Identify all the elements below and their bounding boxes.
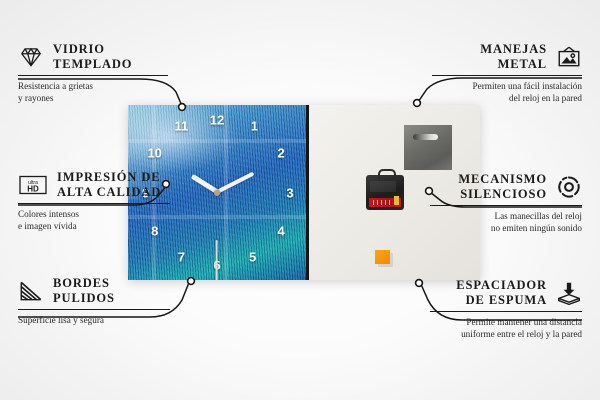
clock-mechanism — [366, 175, 404, 210]
mechanism-label — [369, 198, 401, 207]
spacer-arrow-icon — [556, 280, 582, 306]
feature-impresion-alta-calidad[interactable]: ultra HD IMPRESIÓN DE ALTA CALIDAD Color… — [18, 170, 170, 232]
feature-title: VIDRIO TEMPLADO — [53, 42, 132, 72]
clock-numeral-1: 1 — [251, 120, 258, 133]
feature-mecanismo-silencioso[interactable]: MECANISMO SILENCIOSO Las manecillas del … — [430, 172, 582, 234]
framed-picture-icon — [556, 44, 582, 70]
mechanism-highlight — [370, 181, 396, 192]
clock-numeral-2: 2 — [277, 147, 284, 160]
clock-numeral-10: 10 — [147, 147, 161, 160]
clock-numeral-11: 11 — [175, 120, 189, 133]
title-rule — [18, 75, 168, 77]
title-rule — [18, 203, 170, 205]
clock-numeral-5: 5 — [249, 251, 256, 264]
ultra-hd-icon: ultra HD — [18, 172, 48, 198]
infographic-canvas: 12 1 2 3 4 5 6 7 8 9 10 11 — [0, 0, 600, 400]
feature-manejas-metal[interactable]: MANEJAS METAL Permiten una fácil instala… — [432, 42, 582, 104]
polished-edge-icon — [18, 278, 44, 304]
hanger-slot — [413, 134, 438, 140]
metal-hanger-plate — [404, 125, 452, 170]
title-rule — [430, 205, 582, 207]
mechanism-chip — [394, 196, 399, 205]
clock-numeral-7: 7 — [178, 251, 185, 264]
feature-bordes-pulidos[interactable]: BORDES PULIDOS Superficie lisa y segura — [18, 276, 170, 326]
diamond-icon — [18, 44, 44, 70]
clock-numeral-12: 12 — [210, 114, 224, 127]
feature-desc: Colores intensos e imagen vívida — [18, 208, 170, 232]
feature-desc: Superficie lisa y segura — [18, 314, 170, 326]
feature-desc: Permite mantener una distancia uniforme … — [430, 316, 582, 340]
feature-desc: Resistencia a grietas y rayones — [18, 80, 168, 104]
svg-text:HD: HD — [27, 184, 39, 193]
mechanism-hook — [378, 169, 396, 180]
feature-espaciador-de-espuma[interactable]: ESPACIADOR DE ESPUMA Permite mantener un… — [430, 278, 582, 340]
feature-vidrio-templado[interactable]: VIDRIO TEMPLADO Resistencia a grietas y … — [18, 42, 168, 104]
clock-hand-cap — [214, 190, 220, 196]
glass-grid-line — [128, 139, 306, 143]
product-photo: 12 1 2 3 4 5 6 7 8 9 10 11 — [128, 105, 480, 280]
clock-numeral-4: 4 — [277, 225, 284, 238]
feature-title: BORDES PULIDOS — [53, 276, 115, 306]
feature-title: IMPRESIÓN DE ALTA CALIDAD — [57, 170, 161, 200]
feature-desc: Permiten una fácil instalación del reloj… — [432, 80, 582, 104]
feature-title: MANEJAS METAL — [480, 42, 547, 72]
foam-spacer — [375, 250, 390, 264]
feature-desc: Las manecillas del reloj no emiten ningú… — [430, 210, 582, 234]
feature-title: MECANISMO SILENCIOSO — [458, 172, 547, 202]
title-rule — [430, 311, 582, 313]
title-rule — [432, 75, 582, 77]
title-rule — [18, 309, 170, 311]
clock-second-hand — [216, 240, 218, 280]
gear-icon — [556, 174, 582, 200]
connector-dot-espaciador — [416, 280, 423, 287]
clock-numeral-3: 3 — [286, 187, 293, 200]
feature-title: ESPACIADOR DE ESPUMA — [456, 278, 547, 308]
glass-grid-line — [224, 105, 228, 280]
